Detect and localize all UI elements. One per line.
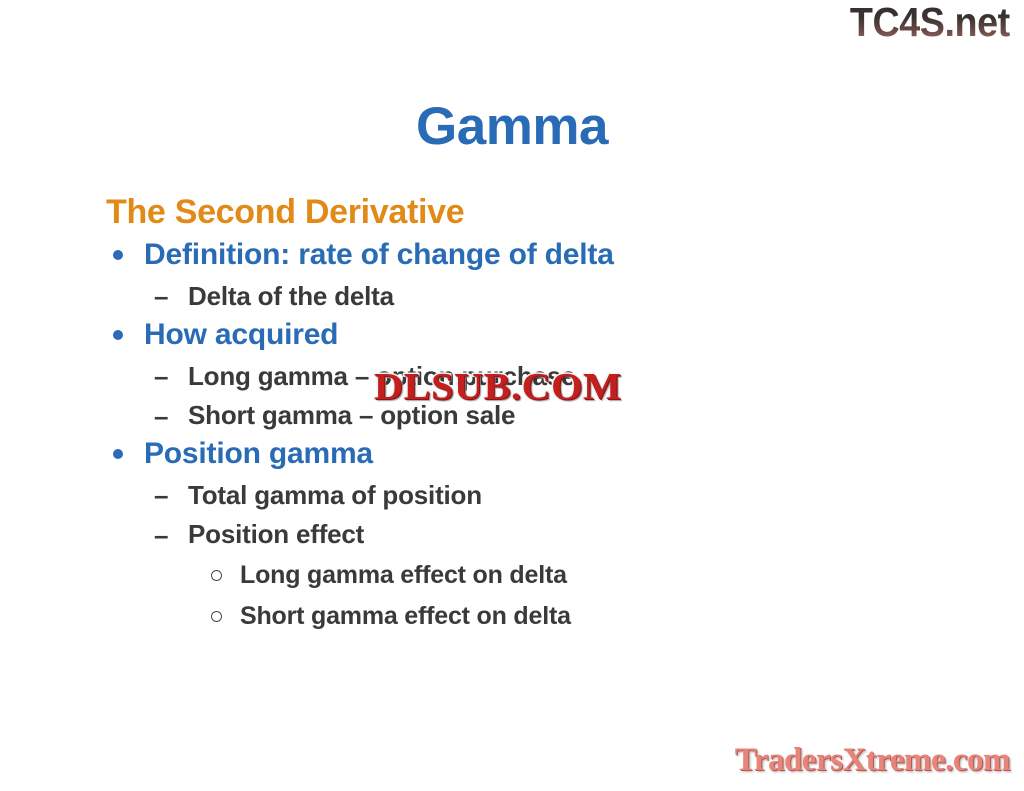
bullet-level3: Short gamma effect on delta [106, 603, 936, 631]
bullet-level1: Position gamma [106, 437, 936, 470]
bullet-text: Definition: rate of change of delta [144, 238, 614, 271]
bullet-dash-icon: – [154, 402, 168, 431]
slide-subheading: The Second Derivative [106, 193, 936, 231]
presentation-slide: TC4S.net Gamma The Second Derivative Def… [0, 0, 1024, 791]
slide-body: The Second Derivative Definition: rate o… [106, 193, 936, 632]
bullet-level2: – Total gamma of position [106, 481, 936, 510]
bullet-text: Short gamma effect on delta [240, 602, 571, 630]
tc4s-brand-logo: TC4S.net [850, 2, 1010, 43]
bullet-level2: – Delta of the delta [106, 282, 936, 311]
bullet-text: Position effect [188, 519, 364, 549]
bullet-text: Position gamma [144, 437, 373, 470]
bullet-dash-icon: – [154, 521, 168, 550]
bullet-level2: – Position effect [106, 520, 936, 549]
bullet-dash-icon: – [154, 282, 168, 311]
slide-title: Gamma [0, 99, 1024, 155]
bullet-dash-icon: – [154, 481, 168, 510]
dlsub-watermark: DLSUB.COM [374, 368, 622, 406]
bullet-text: Long gamma effect on delta [240, 561, 567, 589]
bullet-circle-icon [211, 611, 222, 622]
tradersxtreme-brand-logo: TradersXtreme.com [735, 744, 1010, 777]
bullet-text: Delta of the delta [188, 281, 394, 311]
bullet-level3: Long gamma effect on delta [106, 562, 936, 590]
bullet-circle-icon [211, 570, 222, 581]
bullet-text: Total gamma of position [188, 480, 482, 510]
bullet-level1: How acquired [106, 318, 936, 351]
bullet-level1: Definition: rate of change of delta [106, 238, 936, 271]
bullet-dash-icon: – [154, 362, 168, 391]
bullet-disc-icon [113, 330, 123, 340]
bullet-disc-icon [113, 250, 123, 260]
bullet-text: How acquired [144, 318, 338, 351]
bullet-disc-icon [113, 449, 123, 459]
dlsub-watermark-text: DLSUB.COM [374, 366, 622, 408]
